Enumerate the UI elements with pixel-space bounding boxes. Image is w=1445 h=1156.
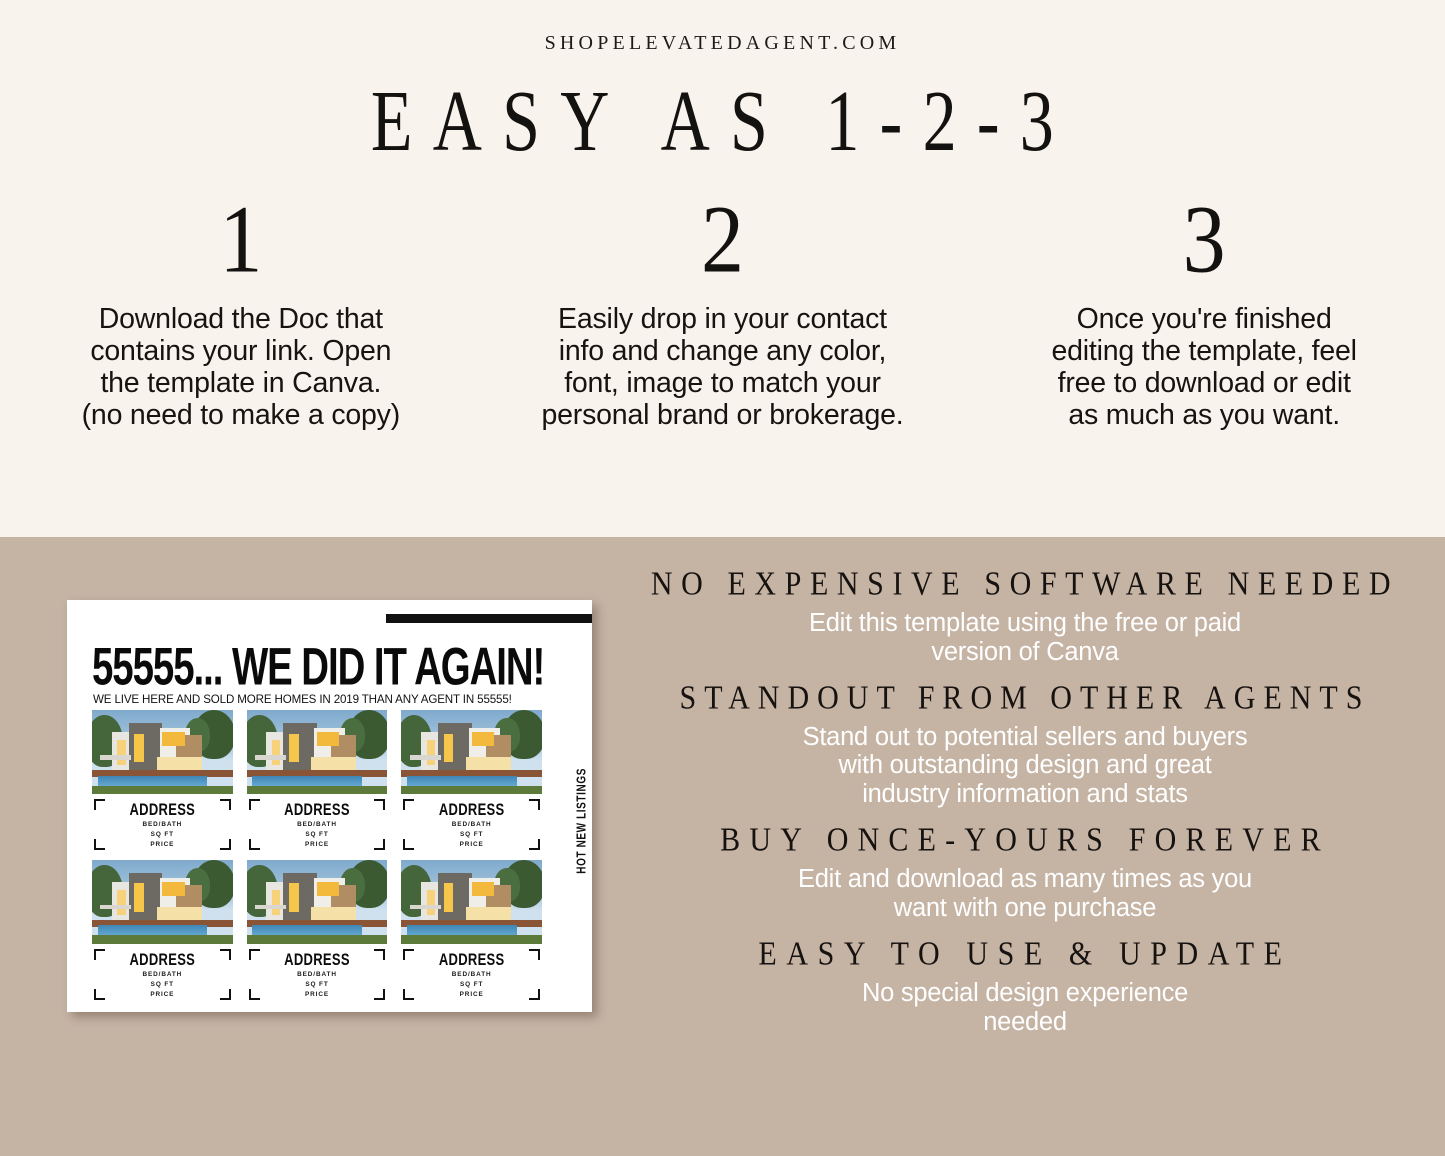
corner-bracket-icon [374,839,385,850]
feature-list: NO EXPENSIVE SOFTWARE NEEDED Edit this t… [625,567,1425,1050]
listing-address: ADDRESS [92,950,233,969]
listing-sqft: SQ FT [92,980,233,990]
step-description: Once you're finished editing the templat… [981,304,1427,432]
corner-bracket-icon [94,839,105,850]
feature-title: EASY TO USE & UPDATE [625,934,1425,973]
promo-page: SHOPELEVATEDAGENT.COM EASY AS 1-2-3 1 Do… [0,0,1445,1156]
feature-title: NO EXPENSIVE SOFTWARE NEEDED [625,565,1425,604]
house-photo [401,860,542,944]
listing-details: ADDRESS BED/BATH SQ FT PRICE [247,794,388,850]
listing-card: ADDRESS BED/BATH SQ FT PRICE [92,710,233,850]
listing-bedbath: BED/BATH [401,970,542,980]
listing-sqft: SQ FT [92,830,233,840]
flyer-side-label: HOT NEW LISTINGS [576,768,590,874]
listing-bedbath: BED/BATH [92,820,233,830]
bottom-section: 55555... WE DID IT AGAIN! WE LIVE HERE A… [0,537,1445,1156]
listing-card: ADDRESS BED/BATH SQ FT PRICE [401,860,542,1000]
feature-description: Stand out to potential sellers and buyer… [625,723,1425,809]
listing-address: ADDRESS [401,950,542,969]
feature-item: EASY TO USE & UPDATE No special design e… [625,937,1425,1037]
corner-bracket-icon [220,839,231,850]
corner-bracket-icon [529,839,540,850]
feature-title: BUY ONCE-YOURS FOREVER [625,821,1425,860]
feature-description: Edit this template using the free or pai… [625,609,1425,667]
listing-details: ADDRESS BED/BATH SQ FT PRICE [92,794,233,850]
step-item: 1 Download the Doc that contains your li… [0,196,482,432]
page-title: EASY AS 1-2-3 [58,72,1387,172]
listing-sqft: SQ FT [401,830,542,840]
corner-bracket-icon [403,989,414,1000]
listing-bedbath: BED/BATH [401,820,542,830]
step-item: 3 Once you're finished editing the templ… [963,196,1445,432]
listing-address: ADDRESS [92,800,233,819]
step-number: 2 [500,191,946,287]
corner-bracket-icon [403,839,414,850]
house-photo [247,710,388,794]
listing-sqft: SQ FT [247,830,388,840]
feature-description: No special design experience needed [625,979,1425,1037]
flyer-sheet: 55555... WE DID IT AGAIN! WE LIVE HERE A… [67,600,592,1012]
listing-address: ADDRESS [401,800,542,819]
feature-item: STANDOUT FROM OTHER AGENTS Stand out to … [625,681,1425,809]
listing-price: PRICE [247,840,388,850]
house-photo [92,860,233,944]
listing-bedbath: BED/BATH [247,820,388,830]
listing-sqft: SQ FT [401,980,542,990]
feature-title: STANDOUT FROM OTHER AGENTS [625,678,1425,717]
listing-grid: ADDRESS BED/BATH SQ FT PRICE [92,710,542,1000]
listing-price: PRICE [401,840,542,850]
flyer-title: 55555... WE DID IT AGAIN! [92,641,544,694]
feature-item: NO EXPENSIVE SOFTWARE NEEDED Edit this t… [625,567,1425,667]
feature-description: Edit and download as many times as you w… [625,865,1425,923]
step-number: 1 [18,191,464,287]
steps-list: 1 Download the Doc that contains your li… [0,196,1445,432]
listing-details: ADDRESS BED/BATH SQ FT PRICE [401,794,542,850]
feature-item: BUY ONCE-YOURS FOREVER Edit and download… [625,823,1425,923]
corner-bracket-icon [374,989,385,1000]
house-photo [401,710,542,794]
listing-details: ADDRESS BED/BATH SQ FT PRICE [401,944,542,1000]
flyer-subtitle: WE LIVE HERE AND SOLD MORE HOMES IN 2019… [93,693,512,706]
listing-bedbath: BED/BATH [92,970,233,980]
listing-card: ADDRESS BED/BATH SQ FT PRICE [92,860,233,1000]
listing-card: ADDRESS BED/BATH SQ FT PRICE [401,710,542,850]
house-photo [92,710,233,794]
step-item: 2 Easily drop in your contact info and c… [482,196,964,432]
flyer-top-rule [386,614,592,623]
listing-details: ADDRESS BED/BATH SQ FT PRICE [247,944,388,1000]
listing-price: PRICE [247,990,388,1000]
listing-address: ADDRESS [247,800,388,819]
site-url: SHOPELEVATEDAGENT.COM [0,32,1445,55]
listing-sqft: SQ FT [247,980,388,990]
listing-price: PRICE [92,840,233,850]
corner-bracket-icon [94,989,105,1000]
corner-bracket-icon [249,839,260,850]
corner-bracket-icon [220,989,231,1000]
corner-bracket-icon [529,989,540,1000]
listing-card: ADDRESS BED/BATH SQ FT PRICE [247,710,388,850]
top-section: SHOPELEVATEDAGENT.COM EASY AS 1-2-3 1 Do… [0,0,1445,537]
step-description: Easily drop in your contact info and cha… [500,304,946,432]
listing-price: PRICE [92,990,233,1000]
listing-details: ADDRESS BED/BATH SQ FT PRICE [92,944,233,1000]
house-photo [247,860,388,944]
listing-card: ADDRESS BED/BATH SQ FT PRICE [247,860,388,1000]
flyer-content: 55555... WE DID IT AGAIN! WE LIVE HERE A… [67,600,592,1012]
listing-bedbath: BED/BATH [247,970,388,980]
corner-bracket-icon [249,989,260,1000]
listing-address: ADDRESS [247,950,388,969]
listing-price: PRICE [401,990,542,1000]
flyer-mockup: 55555... WE DID IT AGAIN! WE LIVE HERE A… [67,600,592,1012]
step-description: Download the Doc that contains your link… [18,304,464,432]
step-number: 3 [981,191,1427,287]
